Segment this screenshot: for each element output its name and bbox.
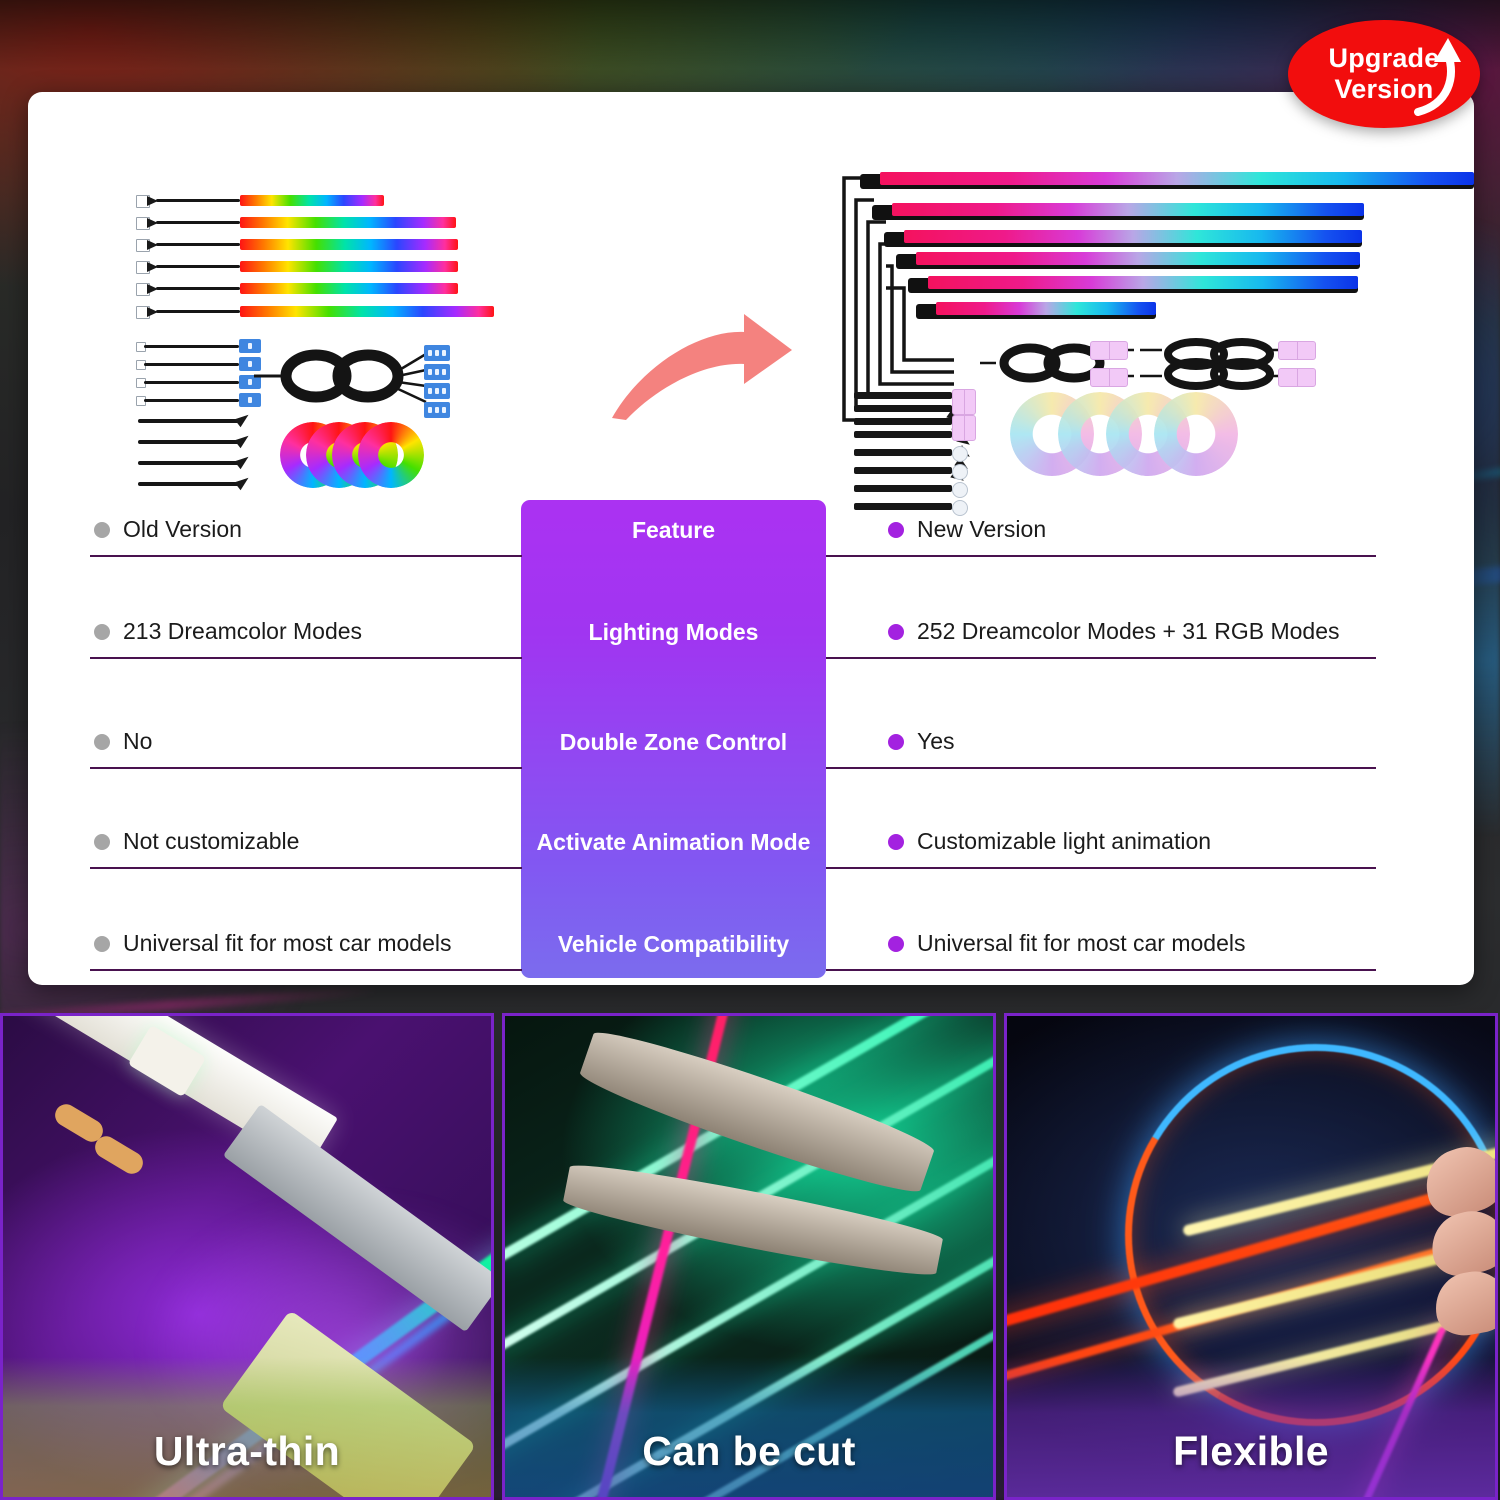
wire-lead bbox=[138, 440, 242, 444]
panel-caption: Flexible bbox=[1007, 1428, 1495, 1475]
old-value-4: Universal fit for most car models bbox=[123, 930, 451, 957]
feature-label-3: Activate Animation Mode bbox=[521, 829, 826, 856]
wire-lead bbox=[854, 405, 952, 412]
pcb-pad bbox=[91, 1132, 147, 1178]
row-divider bbox=[90, 867, 522, 869]
bullet-dot-new-icon bbox=[888, 734, 904, 750]
led-bar-new bbox=[892, 203, 1364, 216]
product-illustrations bbox=[28, 92, 1474, 492]
panel-caption: Ultra-thin bbox=[3, 1428, 491, 1475]
old-value-0: Old Version bbox=[123, 516, 242, 543]
wire-lead bbox=[138, 461, 242, 465]
panel-can-be-cut: Can be cut bbox=[502, 1013, 996, 1500]
row-divider bbox=[826, 969, 1376, 971]
led-bar-old bbox=[240, 261, 458, 272]
wire-lead bbox=[854, 449, 952, 456]
wire-lead bbox=[144, 381, 239, 384]
bullet-dot-old-icon bbox=[94, 624, 110, 640]
wire-lead bbox=[156, 287, 240, 290]
table-cell-new-3: Customizable light animation bbox=[888, 828, 1211, 855]
bullet-dot-old-icon bbox=[94, 936, 110, 952]
row-divider bbox=[90, 657, 522, 659]
wire-lead bbox=[854, 392, 952, 399]
new-value-1: 252 Dreamcolor Modes + 31 RGB Modes bbox=[917, 618, 1340, 645]
table-cell-old-0: Old Version bbox=[94, 516, 242, 543]
row-divider bbox=[90, 767, 522, 769]
panel-flexible: Flexible bbox=[1004, 1013, 1498, 1500]
bullet-dot-new-icon bbox=[888, 624, 904, 640]
upgrade-version-badge: Upgrade Version bbox=[1288, 20, 1480, 128]
connector-block-icon bbox=[952, 389, 976, 415]
wire-lead bbox=[156, 199, 240, 202]
table-cell-new-1: 252 Dreamcolor Modes + 31 RGB Modes bbox=[888, 618, 1340, 645]
row-divider bbox=[826, 767, 1376, 769]
feature-label-4: Vehicle Compatibility bbox=[521, 931, 826, 958]
wire-lead bbox=[138, 419, 242, 423]
connector-block-icon bbox=[1278, 341, 1316, 360]
bullet-dot-old-icon bbox=[94, 522, 110, 538]
wire-lead bbox=[144, 345, 239, 348]
led-bar-new bbox=[916, 252, 1360, 265]
background-top-shade bbox=[0, 0, 1500, 70]
connector-block-icon bbox=[1278, 368, 1316, 387]
connector-tip-icon bbox=[234, 474, 251, 490]
new-value-4: Universal fit for most car models bbox=[917, 930, 1245, 957]
wire-lead bbox=[854, 485, 952, 492]
row-divider bbox=[90, 555, 522, 557]
table-cell-old-3: Not customizable bbox=[94, 828, 299, 855]
led-bar-old bbox=[240, 195, 384, 206]
led-bar-old bbox=[240, 217, 456, 228]
wire-lead bbox=[138, 482, 242, 486]
bullet-dot-new-icon bbox=[888, 834, 904, 850]
wire-lead bbox=[854, 418, 952, 425]
wire-lead bbox=[854, 467, 952, 474]
led-bar-old bbox=[240, 283, 458, 294]
led-bar-new bbox=[928, 276, 1358, 289]
table-cell-new-4: Universal fit for most car models bbox=[888, 930, 1245, 957]
bullet-dot-old-icon bbox=[94, 734, 110, 750]
wire-lead bbox=[156, 221, 240, 224]
wire-lead bbox=[156, 265, 240, 268]
upgrade-arrow-icon bbox=[606, 306, 796, 426]
new-value-0: New Version bbox=[917, 516, 1046, 543]
new-value-2: Yes bbox=[917, 728, 955, 755]
end-cap-icon bbox=[952, 446, 968, 462]
wire-lead bbox=[156, 310, 240, 313]
led-bar-new bbox=[936, 302, 1156, 315]
comparison-table: Old Version Feature New Version 213 Drea… bbox=[28, 492, 1474, 985]
bullet-dot-new-icon bbox=[888, 936, 904, 952]
led-strip-coil bbox=[1154, 392, 1238, 476]
feature-label-1: Lighting Modes bbox=[521, 619, 826, 646]
table-cell-new-2: Yes bbox=[888, 728, 955, 755]
connector-block-icon bbox=[1090, 341, 1128, 360]
bullet-dot-old-icon bbox=[94, 834, 110, 850]
clip-module-icon bbox=[424, 364, 450, 380]
led-bar-old bbox=[240, 239, 458, 250]
new-value-3: Customizable light animation bbox=[917, 828, 1211, 855]
table-cell-old-4: Universal fit for most car models bbox=[94, 930, 451, 957]
panel-caption: Can be cut bbox=[505, 1428, 993, 1475]
old-value-2: No bbox=[123, 728, 152, 755]
connector-tip-icon bbox=[234, 453, 251, 469]
row-divider bbox=[826, 555, 1376, 557]
table-cell-new-0: New Version bbox=[888, 516, 1046, 543]
clip-module-icon bbox=[424, 345, 450, 361]
clip-module-icon bbox=[424, 402, 450, 418]
row-divider bbox=[90, 969, 522, 971]
panel-color-wash bbox=[1007, 1357, 1495, 1497]
led-strip-coil bbox=[358, 422, 424, 488]
led-bar-old bbox=[240, 306, 494, 317]
feature-label-0: Feature bbox=[521, 517, 826, 544]
panel-ultra-thin: Ultra-thin bbox=[0, 1013, 494, 1500]
row-divider bbox=[826, 657, 1376, 659]
connector-block-icon bbox=[1090, 368, 1128, 387]
wire-lead bbox=[144, 399, 239, 402]
power-cable-icon bbox=[250, 332, 430, 418]
panel-color-wash bbox=[505, 1357, 993, 1497]
clip-module-icon bbox=[424, 383, 450, 399]
table-cell-old-2: No bbox=[94, 728, 152, 755]
curved-up-arrow-icon bbox=[1404, 32, 1464, 116]
connector-tip-icon bbox=[234, 432, 251, 448]
bullet-dot-new-icon bbox=[888, 522, 904, 538]
led-bar-new bbox=[904, 230, 1362, 243]
row-divider bbox=[826, 867, 1376, 869]
table-cell-old-1: 213 Dreamcolor Modes bbox=[94, 618, 362, 645]
end-cap-icon bbox=[952, 464, 968, 480]
led-bar-new bbox=[880, 172, 1474, 185]
infographic-stage: Old Version Feature New Version 213 Drea… bbox=[0, 0, 1500, 1500]
wire-lead bbox=[144, 363, 239, 366]
connector-block-icon bbox=[952, 415, 976, 441]
feature-label-2: Double Zone Control bbox=[521, 729, 826, 756]
old-value-3: Not customizable bbox=[123, 828, 299, 855]
panel-color-wash bbox=[3, 1357, 491, 1497]
feature-panels: Ultra-thin Can be cut bbox=[0, 1013, 1500, 1500]
old-value-1: 213 Dreamcolor Modes bbox=[123, 618, 362, 645]
wire-lead bbox=[156, 243, 240, 246]
wire-lead bbox=[854, 431, 952, 438]
